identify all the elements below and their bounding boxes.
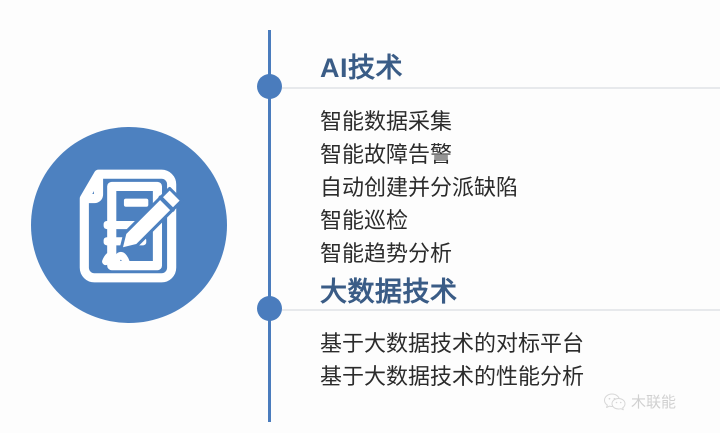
list-item: 智能故障告警: [320, 138, 518, 171]
watermark-label: 木联能: [631, 391, 676, 412]
list-item: 自动创建并分派缺陷: [320, 171, 518, 204]
list-item: 基于大数据技术的性能分析: [320, 360, 584, 393]
document-pen-badge: [31, 127, 227, 323]
section-heading-ai: AI技术: [320, 46, 403, 85]
list-item: 智能趋势分析: [320, 237, 518, 270]
timeline-dot-ai: [257, 74, 282, 99]
section-item-list-ai: 智能数据采集 智能故障告警 自动创建并分派缺陷 智能巡检 智能趋势分析: [320, 105, 518, 270]
section-divider-bigdata: [282, 309, 720, 311]
section-item-list-bigdata: 基于大数据技术的对标平台 基于大数据技术的性能分析: [320, 327, 584, 393]
list-item: 基于大数据技术的对标平台: [320, 327, 584, 360]
watermark: 木联能: [604, 391, 676, 412]
list-item: 智能数据采集: [320, 105, 518, 138]
section-heading-bigdata: 大数据技术: [320, 270, 458, 309]
slide-canvas: AI技术 智能数据采集 智能故障告警 自动创建并分派缺陷 智能巡检 智能趋势分析…: [0, 0, 720, 433]
wechat-icon: [604, 393, 626, 411]
section-divider-ai: [282, 87, 720, 89]
document-pen-icon: [64, 160, 194, 290]
timeline-dot-bigdata: [257, 296, 282, 321]
list-item: 智能巡检: [320, 204, 518, 237]
